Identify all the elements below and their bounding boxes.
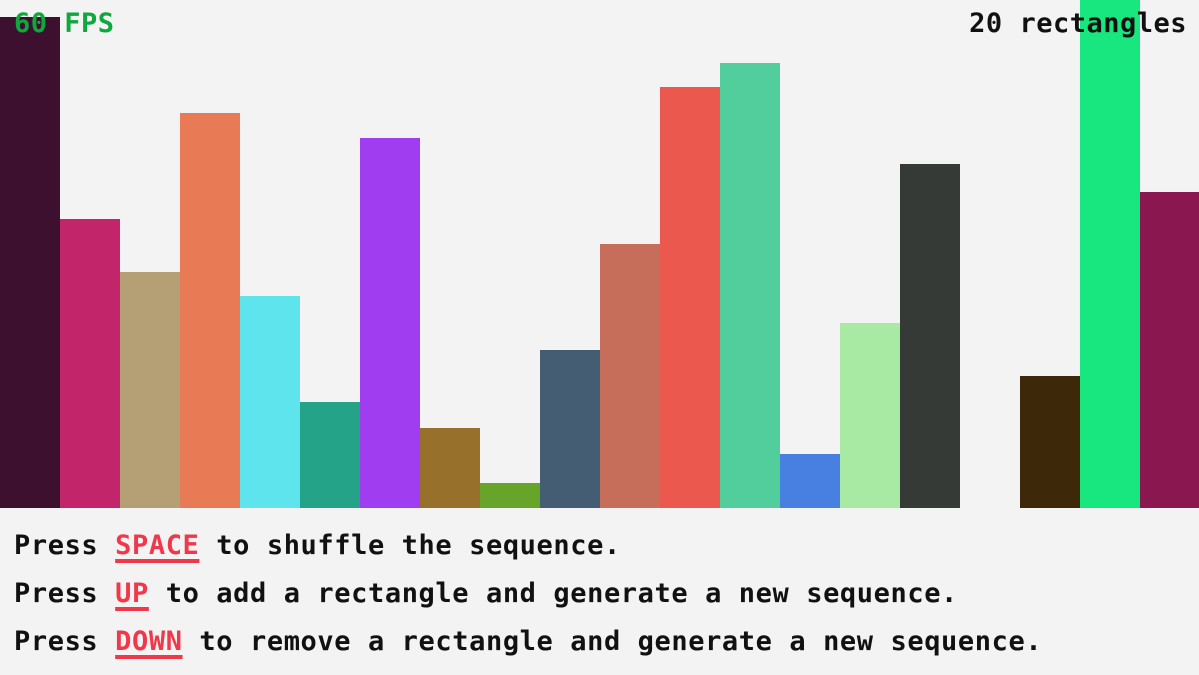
instruction-suffix: to remove a rectangle and generate a new… bbox=[183, 626, 1043, 657]
bar-2-crimson-pink bbox=[60, 219, 120, 508]
rectangle-chart bbox=[0, 0, 1199, 508]
key-space[interactable]: SPACE bbox=[115, 530, 199, 561]
bar-18-dark-brown bbox=[1020, 376, 1080, 508]
instruction-line-add: Press UP to add a rectangle and generate… bbox=[14, 570, 1199, 618]
bar-12-red bbox=[660, 87, 720, 508]
instruction-prefix: Press bbox=[14, 530, 115, 561]
fps-counter: 60 FPS bbox=[14, 8, 115, 39]
app-root: 60 FPS 20 rectangles Press SPACE to shuf… bbox=[0, 0, 1199, 675]
bar-4-orange bbox=[180, 113, 240, 508]
bar-3-tan bbox=[120, 272, 180, 508]
instruction-suffix: to shuffle the sequence. bbox=[199, 530, 620, 561]
instruction-line-remove: Press DOWN to remove a rectangle and gen… bbox=[14, 618, 1199, 666]
bar-6-teal bbox=[300, 402, 360, 508]
bar-9-olive-green bbox=[480, 483, 540, 508]
bar-11-terracotta bbox=[600, 244, 660, 508]
bar-8-ochre bbox=[420, 428, 480, 508]
instruction-prefix: Press bbox=[14, 578, 115, 609]
bar-5-cyan bbox=[240, 296, 300, 508]
instruction-line-shuffle: Press SPACE to shuffle the sequence. bbox=[14, 522, 1199, 570]
bar-19-spring-green bbox=[1080, 0, 1140, 508]
bar-20-dark-magenta bbox=[1140, 192, 1199, 508]
instructions-panel: Press SPACE to shuffle the sequence. Pre… bbox=[0, 508, 1199, 675]
bar-10-slate-blue bbox=[540, 350, 600, 508]
rectangle-count-label: 20 rectangles bbox=[969, 8, 1187, 39]
key-down[interactable]: DOWN bbox=[115, 626, 182, 657]
instruction-suffix: to add a rectangle and generate a new se… bbox=[149, 578, 958, 609]
bar-13-mint-green bbox=[720, 63, 780, 508]
instruction-prefix: Press bbox=[14, 626, 115, 657]
bar-7-violet bbox=[360, 138, 420, 508]
key-up[interactable]: UP bbox=[115, 578, 149, 609]
bar-1-dark-plum bbox=[0, 17, 60, 508]
bar-15-light-green bbox=[840, 323, 900, 508]
bar-16-charcoal bbox=[900, 164, 960, 508]
bar-14-blue bbox=[780, 454, 840, 508]
